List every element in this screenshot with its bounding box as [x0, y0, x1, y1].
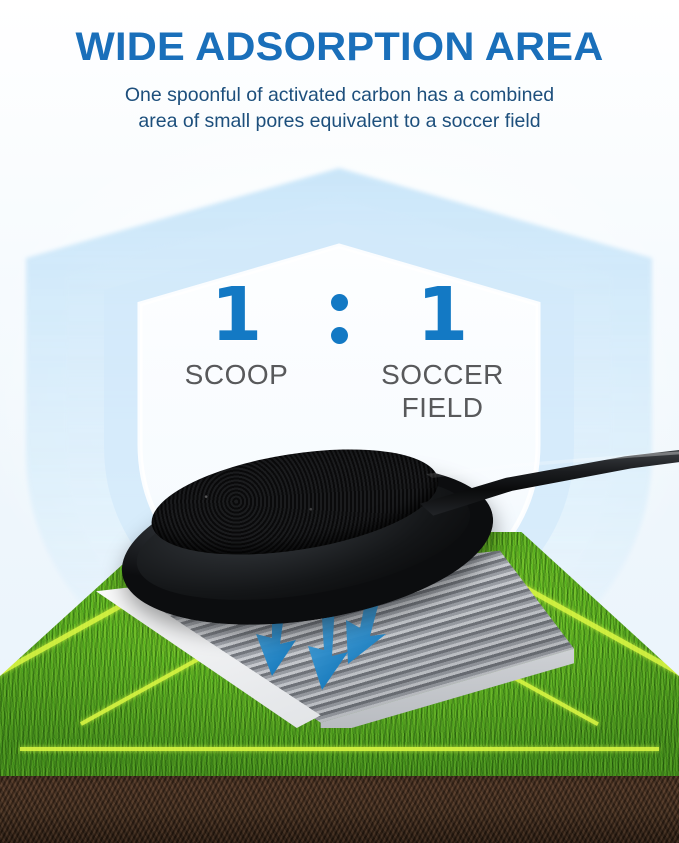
header-block: WIDE ADSORPTION AREA One spoonful of act…: [0, 0, 679, 134]
black-spoon-with-activated-carbon: [120, 440, 679, 630]
colon-dot-top-icon: [331, 294, 348, 311]
infographic-page: WIDE ADSORPTION AREA One spoonful of act…: [0, 0, 679, 843]
product-scene: [0, 380, 679, 843]
colon-dot-bottom-icon: [331, 327, 348, 344]
page-subtitle: One spoonful of activated carbon has a c…: [60, 82, 620, 134]
ratio-separator-colon: [312, 278, 368, 344]
ratio-right-number: 1: [368, 278, 518, 352]
subtitle-line-2: area of small pores equivalent to a socc…: [60, 108, 620, 134]
ratio-left-number: 1: [162, 278, 312, 352]
field-line-horizontal-front: [20, 747, 658, 751]
ratio-left: 1 SCOOP: [162, 278, 312, 391]
page-title: WIDE ADSORPTION AREA: [0, 24, 679, 70]
subtitle-line-1: One spoonful of activated carbon has a c…: [60, 82, 620, 108]
